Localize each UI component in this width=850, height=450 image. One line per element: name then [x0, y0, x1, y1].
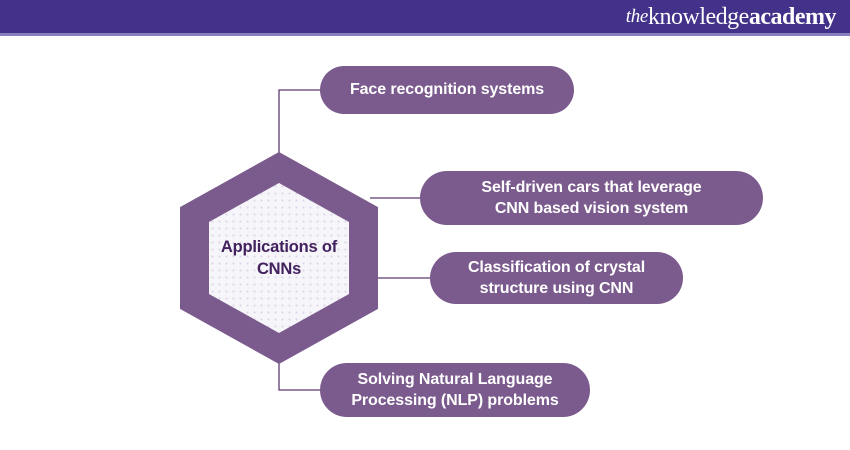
diagram-area: Applications of CNNs Face recognition sy…: [0, 36, 850, 450]
branch-pill-face-recognition[interactable]: Face recognition systems: [320, 66, 574, 114]
logo-word-knowledge: knowledge: [648, 4, 749, 31]
center-node-label: Applications of CNNs: [209, 236, 349, 281]
brand-logo: theknowledgeacademy: [626, 2, 836, 32]
branch-pill-self-driven-cars[interactable]: Self-driven cars that leverage CNN based…: [420, 171, 763, 225]
branch-pill-crystal-classification[interactable]: Classification of crystal structure usin…: [430, 252, 683, 304]
branch-label: Solving Natural Language Processing (NLP…: [351, 369, 558, 411]
slide-canvas: theknowledgeacademy Applications of CNNs…: [0, 0, 850, 450]
logo-word-the: the: [626, 6, 648, 28]
branch-pill-nlp-problems[interactable]: Solving Natural Language Processing (NLP…: [320, 363, 590, 417]
branch-label: Face recognition systems: [350, 79, 544, 100]
branch-label: Classification of crystal structure usin…: [468, 257, 645, 299]
center-node[interactable]: Applications of CNNs: [180, 152, 378, 364]
branch-label: Self-driven cars that leverage CNN based…: [481, 177, 701, 219]
logo-word-academy: academy: [749, 4, 836, 31]
